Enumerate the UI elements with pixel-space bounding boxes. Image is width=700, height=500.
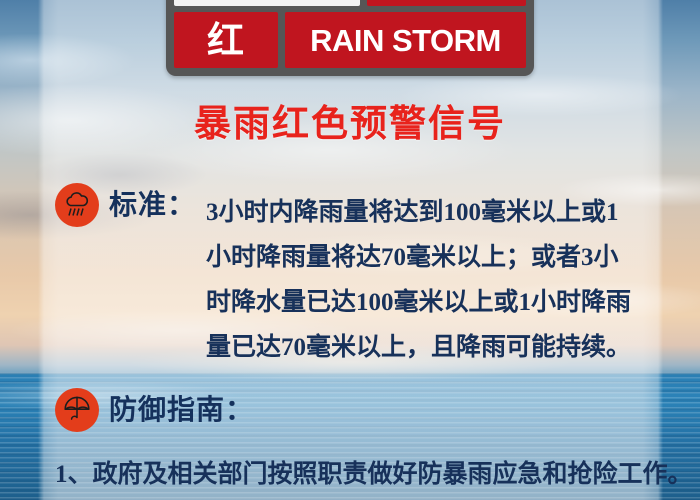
section-guide-body: 1、政府及相关部门按照职责做好防暴雨应急和抢险工作。 [55,452,675,497]
banner-tile-red [367,0,526,6]
banner-tile-white [174,0,360,6]
umbrella-icon [55,388,99,432]
warning-poster: 红 RAIN STORM 暴雨红色预警信号 标准： 3小时内降雨量将达到100毫… [0,0,700,500]
section-guide: 防御指南： [55,388,254,432]
banner-en-label: RAIN STORM [285,12,526,68]
section-standard-header: 标准： [55,183,196,227]
signal-banner: 红 RAIN STORM [166,0,534,76]
page-title: 暴雨红色预警信号 [0,104,700,145]
list-item: 1、政府及相关部门按照职责做好防暴雨应急和抢险工作。 [55,452,675,497]
banner-top-row [174,0,526,6]
banner-main-row: 红 RAIN STORM [174,12,526,68]
body-line: 量已达70毫米以上，且降雨可能持续。 [206,325,656,370]
banner-cn-label: 红 [174,12,278,68]
section-standard-body: 3小时内降雨量将达到100毫米以上或1 小时降雨量将达70毫米以上；或者3小 时… [206,190,656,370]
body-line: 小时降雨量将达70毫米以上；或者3小 [206,235,656,280]
section-guide-header: 防御指南： [55,388,254,432]
body-line: 3小时内降雨量将达到100毫米以上或1 [206,190,656,235]
rain-cloud-icon [55,183,99,227]
section-standard: 标准： [55,183,196,227]
section-standard-label: 标准： [109,183,196,227]
body-line: 时降水量已达100毫米以上或1小时降雨 [206,280,656,325]
section-guide-label: 防御指南： [109,388,254,432]
